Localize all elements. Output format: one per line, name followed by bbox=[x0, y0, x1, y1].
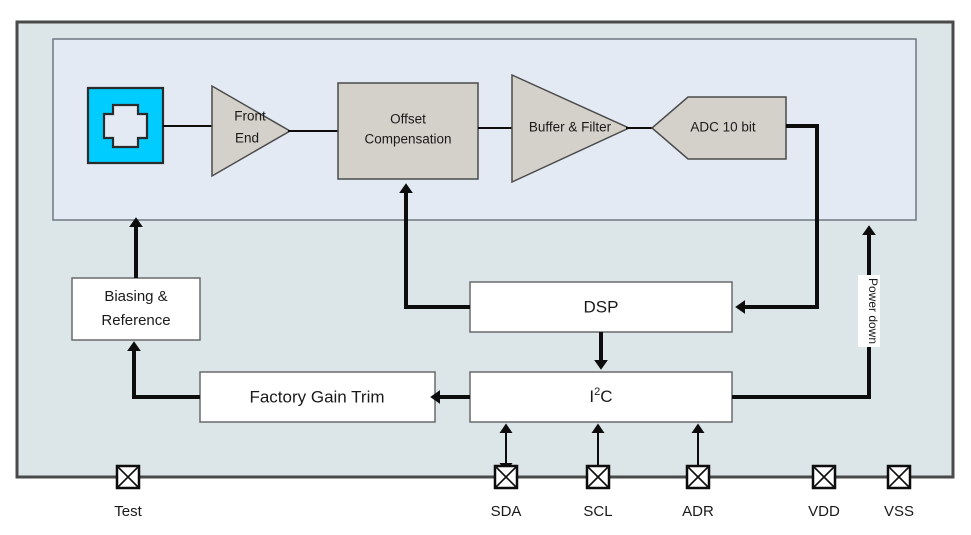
offset-compensation-label-line2: Compensation bbox=[364, 132, 451, 147]
pin-vss[interactable]: VSS bbox=[884, 466, 914, 520]
biasing-reference-label-line2: Reference bbox=[101, 312, 170, 329]
power-down-label: Power down bbox=[866, 278, 880, 344]
block-diagram-canvas: Front End Offset Compensation Buffer & F… bbox=[0, 0, 971, 535]
pin-vdd-label: VDD bbox=[808, 503, 840, 520]
factory-gain-trim-label: Factory Gain Trim bbox=[249, 387, 384, 406]
front-end-label-line2: End bbox=[235, 131, 259, 146]
buffer-filter-label: Buffer & Filter bbox=[529, 120, 612, 135]
pin-adr[interactable]: ADR bbox=[682, 466, 714, 520]
i2c-label: I2C bbox=[589, 386, 612, 407]
pin-test-label: Test bbox=[114, 503, 142, 520]
pin-adr-label: ADR bbox=[682, 503, 714, 520]
block-diagram-root: Front End Offset Compensation Buffer & F… bbox=[0, 0, 971, 535]
pin-scl-label: SCL bbox=[583, 503, 612, 520]
dsp-label: DSP bbox=[584, 297, 619, 316]
pin-vss-label: VSS bbox=[884, 503, 914, 520]
offset-compensation-label-line1: Offset bbox=[390, 112, 426, 127]
i2c-label-tail: C bbox=[600, 387, 612, 406]
block-biasing-reference[interactable]: Biasing & Reference bbox=[72, 278, 200, 340]
pin-test[interactable]: Test bbox=[114, 466, 142, 520]
pin-scl[interactable]: SCL bbox=[583, 466, 612, 520]
biasing-reference-label-line1: Biasing & bbox=[104, 288, 167, 305]
block-offset-compensation[interactable]: Offset Compensation bbox=[338, 83, 478, 179]
pin-sda-label: SDA bbox=[491, 503, 522, 520]
block-factory-gain-trim[interactable]: Factory Gain Trim bbox=[200, 372, 435, 422]
adc-label: ADC 10 bit bbox=[690, 120, 756, 135]
front-end-label-line1: Front bbox=[234, 109, 266, 124]
pin-vdd[interactable]: VDD bbox=[808, 466, 840, 520]
block-dsp[interactable]: DSP bbox=[470, 282, 732, 332]
pin-sda[interactable]: SDA bbox=[491, 466, 522, 520]
block-i2c[interactable]: I2C bbox=[470, 372, 732, 422]
